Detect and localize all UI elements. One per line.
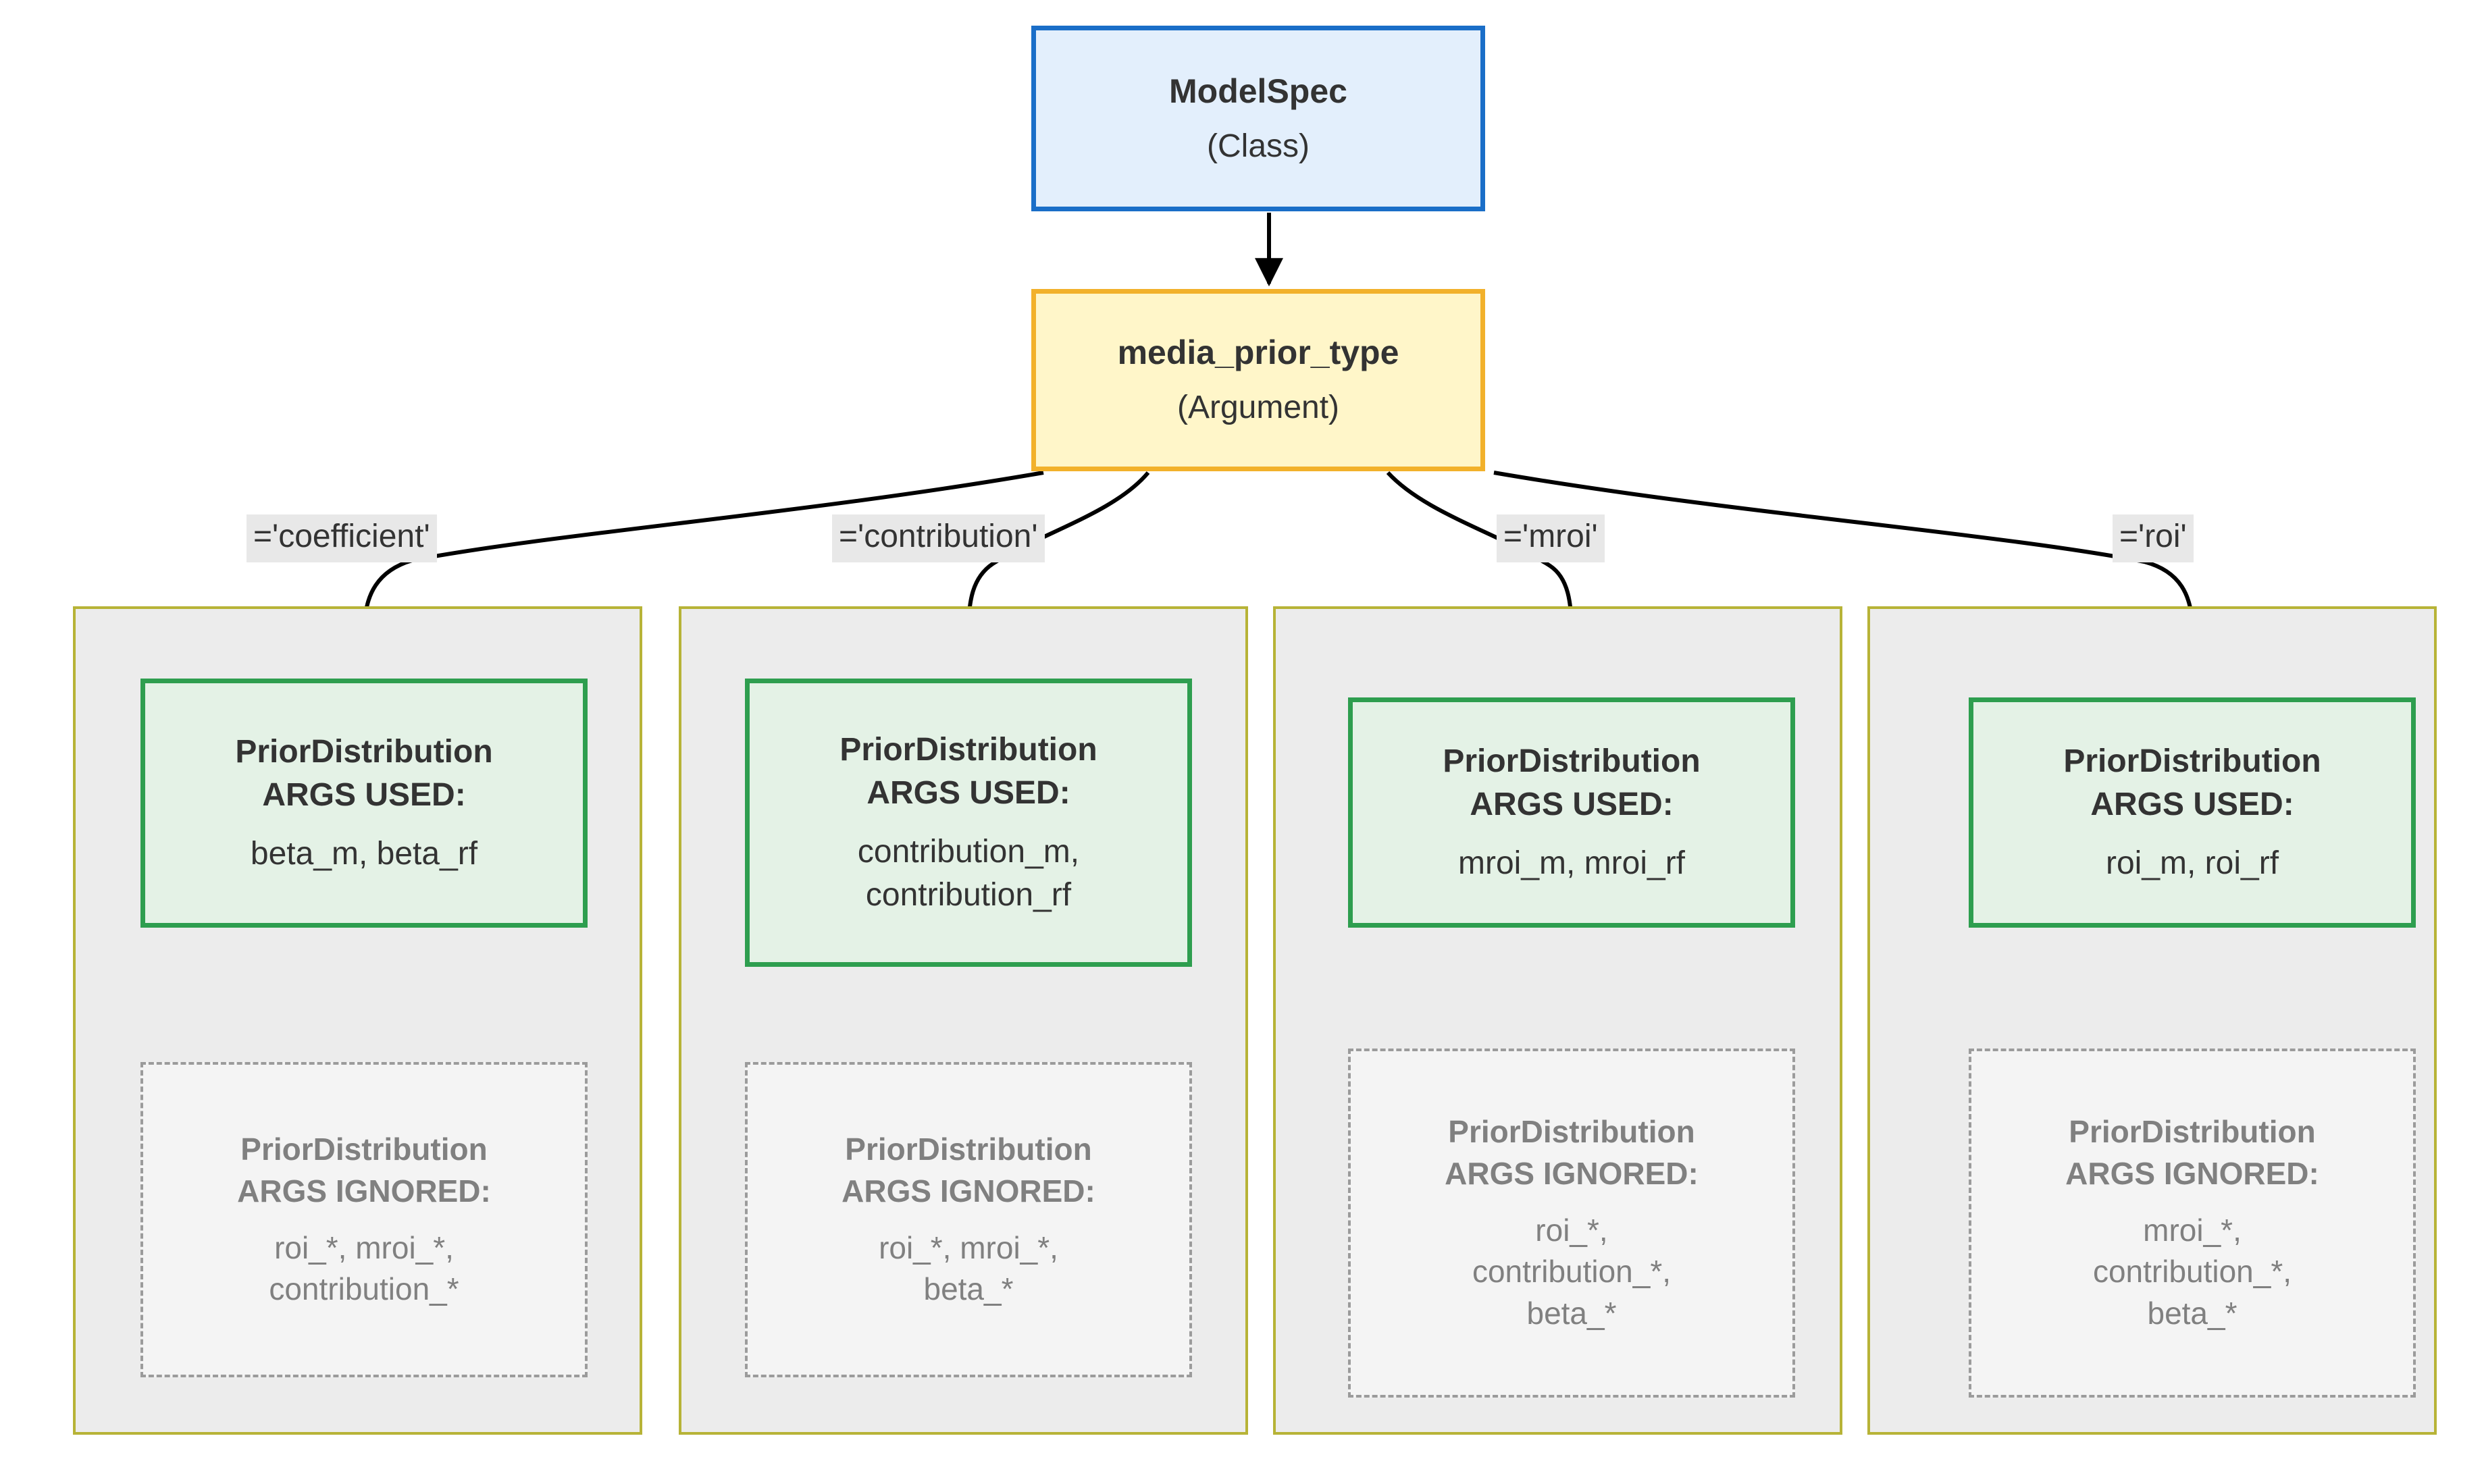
node-modelspec[interactable]: ModelSpec (Class) (1031, 26, 1485, 211)
ignored-value-mroi-1: contribution_*, (1351, 1251, 1792, 1293)
ignored-value-coefficient-1: contribution_* (143, 1269, 585, 1310)
ignored-subtitle-mroi: ARGS IGNORED: (1351, 1153, 1792, 1195)
used-subtitle-contribution: ARGS USED: (750, 772, 1187, 815)
ignored-subtitle-contribution: ARGS IGNORED: (748, 1171, 1189, 1213)
used-value-contribution-0: contribution_m, (750, 830, 1187, 874)
ignored-value-roi-0: mroi_*, (1971, 1210, 2413, 1252)
node-media-prior-type-kind: (Argument) (1036, 386, 1480, 429)
node-media-prior-type-title: media_prior_type (1036, 330, 1480, 375)
used-title-contribution: PriorDistribution (750, 728, 1187, 772)
ignored-value-contribution-1: beta_* (748, 1269, 1189, 1310)
node-used-coefficient[interactable]: PriorDistribution ARGS USED: beta_m, bet… (140, 679, 588, 928)
node-ignored-coefficient[interactable]: PriorDistribution ARGS IGNORED: roi_*, m… (140, 1062, 588, 1377)
used-subtitle-roi: ARGS USED: (1973, 783, 2411, 826)
ignored-title-roi: PriorDistribution (1971, 1111, 2413, 1153)
ignored-subtitle-coefficient: ARGS IGNORED: (143, 1171, 585, 1213)
ignored-value-roi-1: contribution_*, (1971, 1251, 2413, 1293)
edge-label-mroi: ='mroi' (1497, 514, 1605, 562)
node-modelspec-title: ModelSpec (1036, 69, 1480, 114)
edge-label-contribution: ='contribution' (832, 514, 1045, 562)
ignored-value-mroi-0: roi_*, (1351, 1210, 1792, 1252)
used-title-mroi: PriorDistribution (1353, 740, 1790, 783)
used-title-coefficient: PriorDistribution (145, 731, 583, 774)
edge-label-coefficient: ='coefficient' (247, 514, 437, 562)
ignored-value-roi-2: beta_* (1971, 1293, 2413, 1335)
node-modelspec-kind: (Class) (1036, 125, 1480, 168)
ignored-subtitle-roi: ARGS IGNORED: (1971, 1153, 2413, 1195)
ignored-title-coefficient: PriorDistribution (143, 1129, 585, 1171)
ignored-value-coefficient-0: roi_*, mroi_*, (143, 1227, 585, 1269)
node-used-roi[interactable]: PriorDistribution ARGS USED: roi_m, roi_… (1969, 697, 2416, 928)
used-value-mroi-0: mroi_m, mroi_rf (1353, 842, 1790, 885)
node-media-prior-type[interactable]: media_prior_type (Argument) (1031, 289, 1485, 471)
diagram-canvas: ModelSpec (Class) media_prior_type (Argu… (0, 0, 2484, 1484)
used-value-contribution-1: contribution_rf (750, 874, 1187, 917)
used-value-coefficient-0: beta_m, beta_rf (145, 832, 583, 876)
used-value-roi-0: roi_m, roi_rf (1973, 842, 2411, 885)
node-used-contribution[interactable]: PriorDistribution ARGS USED: contributio… (745, 679, 1192, 967)
node-ignored-contribution[interactable]: PriorDistribution ARGS IGNORED: roi_*, m… (745, 1062, 1192, 1377)
node-ignored-mroi[interactable]: PriorDistribution ARGS IGNORED: roi_*, c… (1348, 1049, 1795, 1398)
ignored-value-mroi-2: beta_* (1351, 1293, 1792, 1335)
used-subtitle-coefficient: ARGS USED: (145, 774, 583, 817)
used-title-roi: PriorDistribution (1973, 740, 2411, 783)
ignored-value-contribution-0: roi_*, mroi_*, (748, 1227, 1189, 1269)
edge-label-roi: ='roi' (2113, 514, 2194, 562)
used-subtitle-mroi: ARGS USED: (1353, 783, 1790, 826)
ignored-title-contribution: PriorDistribution (748, 1129, 1189, 1171)
node-ignored-roi[interactable]: PriorDistribution ARGS IGNORED: mroi_*, … (1969, 1049, 2416, 1398)
ignored-title-mroi: PriorDistribution (1351, 1111, 1792, 1153)
node-used-mroi[interactable]: PriorDistribution ARGS USED: mroi_m, mro… (1348, 697, 1795, 928)
